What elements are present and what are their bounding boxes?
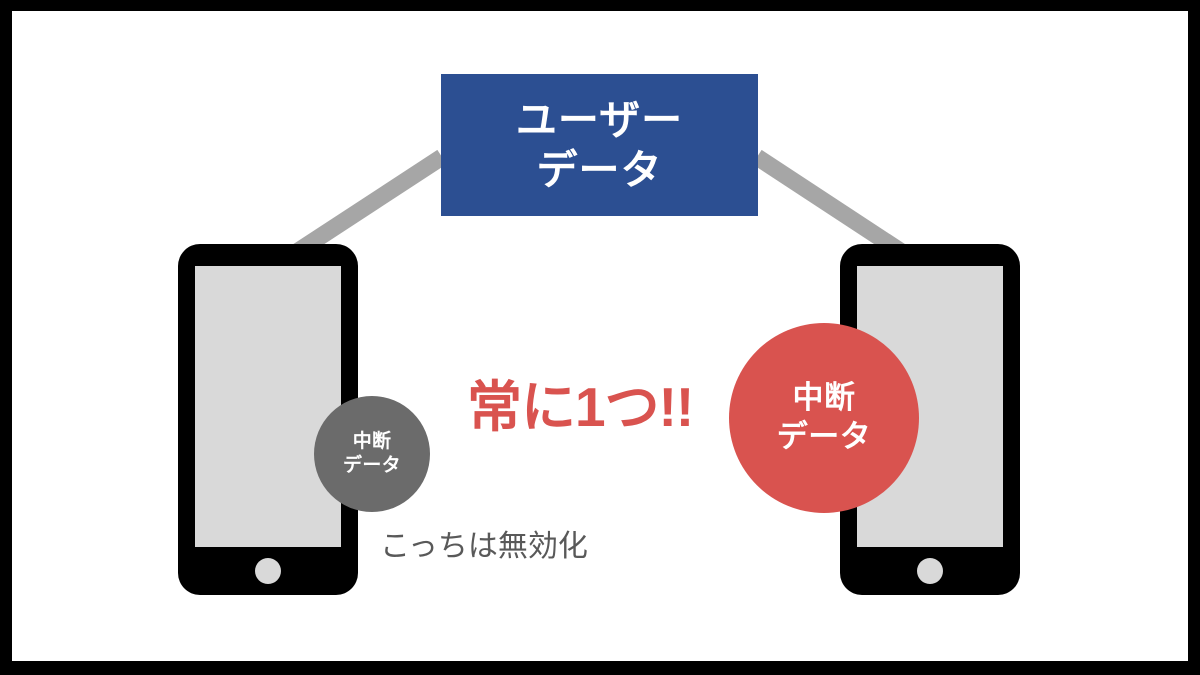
phone-left-screen [195,266,341,547]
disabled-interrupt-data-label-line1: 中断 [353,430,392,454]
disabled-interrupt-data-label-line2: データ [343,454,401,478]
phone-left-home-button[interactable] [255,558,281,584]
active-interrupt-data-circle: 中断 データ [729,323,919,513]
slide-canvas: ユーザー データ 中断 データ 常に1つ!! 中断 データ こっちは無効化 [12,11,1188,661]
active-interrupt-data-label-line1: 中断 [793,379,856,418]
user-data-label-line1: ユーザー [516,95,683,145]
caption-text: こっちは無効化 [380,529,588,565]
phone-right-home-button[interactable] [917,558,943,584]
slide-frame: ユーザー データ 中断 データ 常に1つ!! 中断 データ こっちは無効化 [0,0,1200,675]
active-interrupt-data-label-line2: データ [777,418,872,457]
user-data-box: ユーザー データ [441,74,758,216]
user-data-label-line2: データ [537,145,663,195]
headline-text: 常に1つ!! [467,379,757,437]
disabled-interrupt-data-circle: 中断 データ [314,396,430,512]
